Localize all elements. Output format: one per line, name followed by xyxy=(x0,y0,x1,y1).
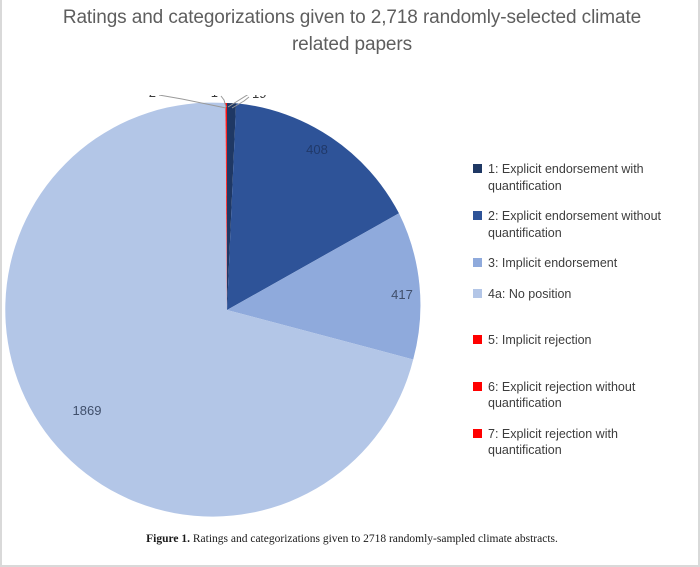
figure-caption-text: Ratings and categorizations given to 271… xyxy=(193,533,558,545)
legend-label: 5: Implicit rejection xyxy=(488,332,592,349)
legend-label: 1: Explicit endorsement with quantificat… xyxy=(488,161,695,194)
legend-label: 2: Explicit endorsement without quantifi… xyxy=(488,208,695,241)
legend-swatch-icon xyxy=(473,289,482,298)
pie-label-cat5: 1 xyxy=(211,95,218,100)
legend-swatch-icon xyxy=(473,164,482,173)
legend-item-6[interactable]: 6: Explicit rejection without quantifica… xyxy=(473,379,695,412)
legend-label: 7: Explicit rejection with quantificatio… xyxy=(488,426,695,459)
chart-title: Ratings and categorizations given to 2,7… xyxy=(52,4,652,58)
legend-swatch-icon xyxy=(473,258,482,267)
legend-swatch-icon xyxy=(473,429,482,438)
legend-item-4a[interactable]: 4a: No position xyxy=(473,286,695,303)
legend-item-7[interactable]: 7: Explicit rejection with quantificatio… xyxy=(473,426,695,459)
pie-label-cat2: 408 xyxy=(306,142,328,157)
chart-legend: 1: Explicit endorsement with quantificat… xyxy=(473,161,695,473)
legend-item-3[interactable]: 3: Implicit endorsement xyxy=(473,255,695,272)
figure-caption-label: Figure 1. xyxy=(146,533,190,545)
legend-item-1[interactable]: 1: Explicit endorsement with quantificat… xyxy=(473,161,695,194)
legend-label: 6: Explicit rejection without quantifica… xyxy=(488,379,695,412)
pie-label-cat4a: 1869 xyxy=(73,403,102,418)
pie-label-cat3: 417 xyxy=(391,287,413,302)
pie-chart: 1 1 2 19 408 417 1869 xyxy=(2,95,462,530)
pie-label-cat1: 19 xyxy=(252,95,266,101)
legend-swatch-icon xyxy=(473,211,482,220)
legend-item-5[interactable]: 5: Implicit rejection xyxy=(473,332,695,349)
legend-swatch-icon xyxy=(473,335,482,344)
pie-chart-svg: 1 1 2 19 408 417 1869 xyxy=(2,95,462,530)
legend-label: 3: Implicit endorsement xyxy=(488,255,617,272)
legend-swatch-icon xyxy=(473,382,482,391)
pie-label-cat6: 2 xyxy=(149,95,156,100)
legend-label: 4a: No position xyxy=(488,286,571,303)
legend-item-2[interactable]: 2: Explicit endorsement without quantifi… xyxy=(473,208,695,241)
figure-panel: Ratings and categorizations given to 2,7… xyxy=(0,0,700,567)
figure-caption: Figure 1. Ratings and categorizations gi… xyxy=(2,533,700,545)
